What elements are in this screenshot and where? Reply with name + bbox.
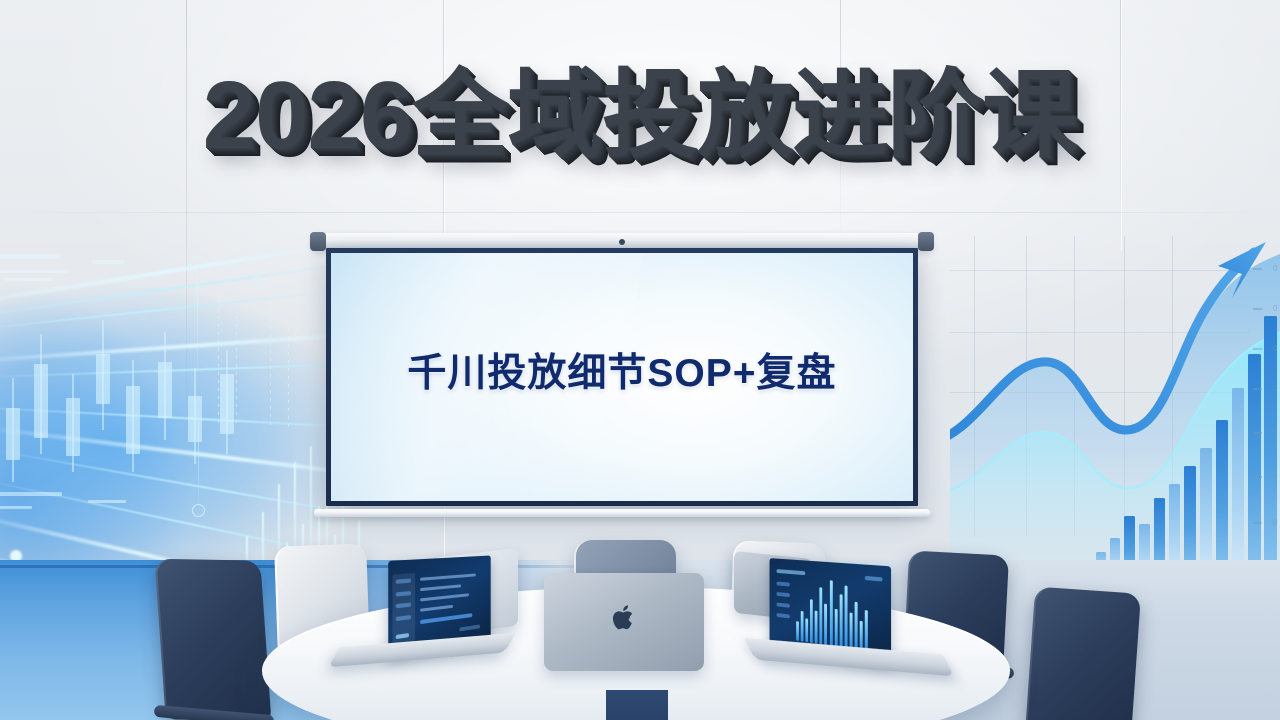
- chart-ytick-label: 0: [1273, 428, 1278, 437]
- chart-ytick-label: 0: [1273, 344, 1278, 353]
- slide-headline: 千川投放细节SOP+复盘: [331, 342, 913, 398]
- ring-node-icon: [252, 276, 263, 287]
- chart-ytick-label: 0: [1273, 384, 1278, 393]
- chart-ytick-label: 0: [1273, 304, 1278, 313]
- screen-frame: 千川投放细节SOP+复盘: [326, 248, 918, 506]
- chart-ytick-label: 0: [1273, 518, 1278, 527]
- wall-seam-horizontal: [0, 212, 1280, 213]
- table-leg: [606, 690, 668, 720]
- growth-chart: 0 0 0 0 0 0 0 000: [950, 236, 1280, 604]
- roller-button-icon: [619, 239, 625, 245]
- chart-ytick-label: 0: [1273, 472, 1278, 481]
- page-title: 2026全域投放进阶课: [0, 68, 1280, 164]
- screen-bottom-weight-bar: [314, 509, 930, 517]
- ring-node-icon: [190, 256, 204, 270]
- chart-ytick-label: 0: [1273, 264, 1278, 273]
- screen-surface: 千川投放细节SOP+复盘: [331, 253, 913, 501]
- poster-canvas: 0 0 0 0 0 0 0 000 千川投放细节SOP+复盘: [0, 0, 1280, 720]
- apple-logo-icon: [611, 603, 637, 633]
- projector-screen[interactable]: 千川投放细节SOP+复盘: [312, 233, 932, 529]
